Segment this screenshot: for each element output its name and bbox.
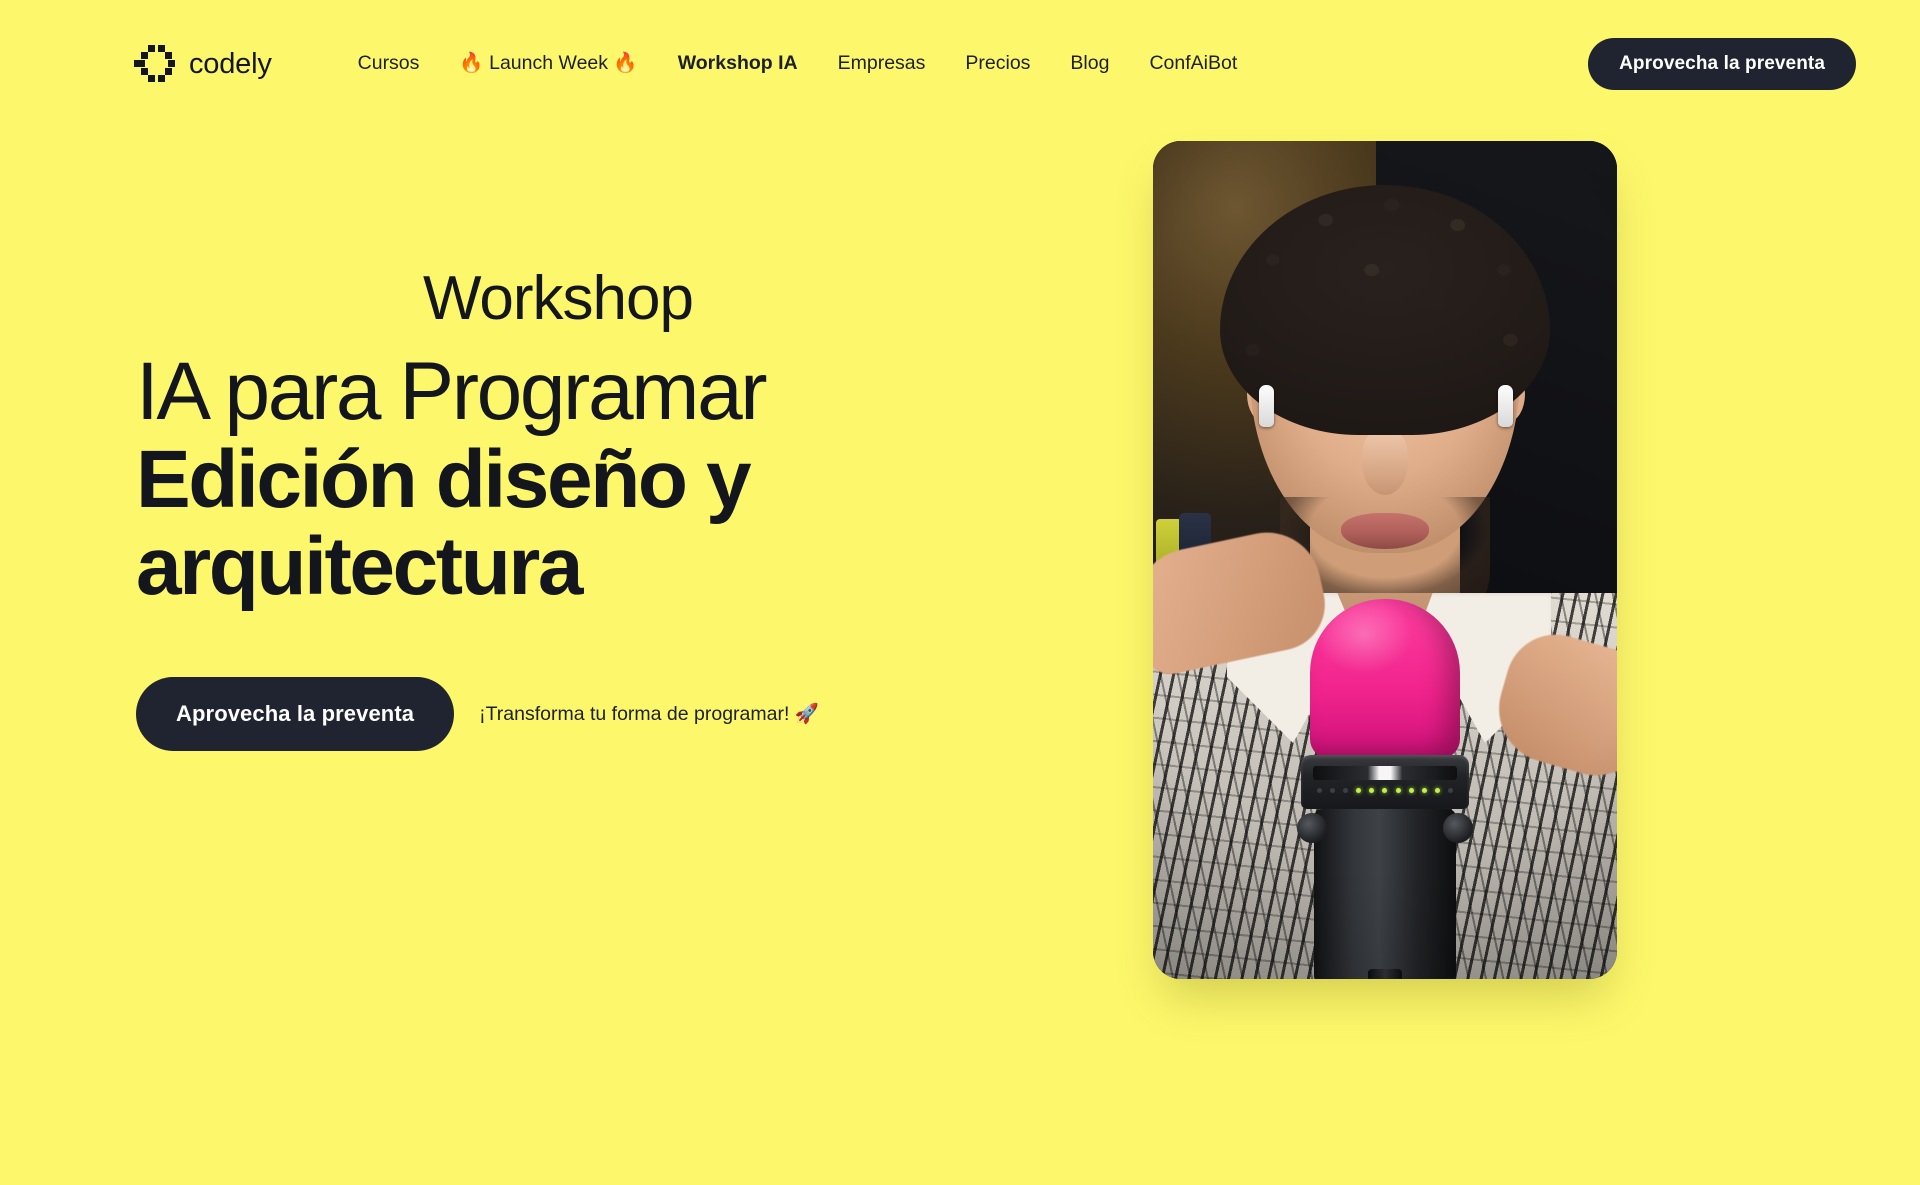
hero-preventa-button[interactable]: Aprovecha la preventa [136,677,454,751]
led-indicator [1369,788,1374,793]
site-header: codely Cursos 🔥 Launch Week 🔥 Workshop I… [0,0,1920,128]
hero-tagline: ¡Transforma tu forma de programar! 🚀 [479,702,819,726]
nav-item-cursos[interactable]: Cursos [358,44,420,84]
nav-item-launch-week[interactable]: 🔥 Launch Week 🔥 [459,44,637,84]
brand-name: codely [189,50,272,79]
hero-title-line-3: arquitectura [136,523,1036,611]
microphone-control-head [1301,755,1469,809]
hero-title-line-1: IA para Programar [136,348,1036,436]
led-indicator [1396,788,1401,793]
nav-item-workshop-ia[interactable]: Workshop IA [678,44,798,84]
presenter-nose [1362,429,1408,495]
led-indicator [1317,788,1322,793]
video-thumbnail-image [1153,141,1617,979]
led-indicator [1409,788,1414,793]
microphone [1299,599,1471,979]
nav-item-blog[interactable]: Blog [1070,44,1109,84]
hero-actions: Aprovecha la preventa ¡Transforma tu for… [136,677,1036,751]
microphone-led-meter [1317,788,1453,793]
microphone-strip [1313,766,1457,780]
led-indicator [1343,788,1348,793]
microphone-yoke-right [1443,813,1473,843]
hero-video-card[interactable] [1153,141,1617,979]
brand-logo-link[interactable]: codely [134,44,272,84]
microphone-stand [1368,969,1402,979]
hero-title: IA para Programar Edición diseño y arqui… [136,348,1036,611]
header-preventa-button[interactable]: Aprovecha la preventa [1588,38,1856,90]
led-indicator [1435,788,1440,793]
earbud-icon-right [1498,385,1513,427]
led-indicator [1422,788,1427,793]
header-cta-wrapper: Aprovecha la preventa [1588,38,1856,90]
hero-section: Workshop IA para Programar Edición diseñ… [0,128,1920,1185]
led-indicator [1356,788,1361,793]
hero-eyebrow: Workshop [148,268,968,330]
led-indicator [1448,788,1453,793]
nav-item-precios[interactable]: Precios [965,44,1030,84]
microphone-body [1314,809,1456,979]
nav-item-empresas[interactable]: Empresas [838,44,926,84]
hero-copy: Workshop IA para Programar Edición diseñ… [136,268,1036,751]
microphone-yoke-left [1297,813,1327,843]
hero-title-line-2: Edición diseño y [136,436,1036,524]
led-indicator [1330,788,1335,793]
nav-item-confaibot[interactable]: ConfAiBot [1149,44,1237,84]
led-indicator [1382,788,1387,793]
microphone-pink-foam [1310,599,1460,759]
earbud-icon-left [1259,385,1274,427]
dotted-ring-logo-icon [134,44,176,84]
main-navigation: Cursos 🔥 Launch Week 🔥 Workshop IA Empre… [358,44,1238,84]
